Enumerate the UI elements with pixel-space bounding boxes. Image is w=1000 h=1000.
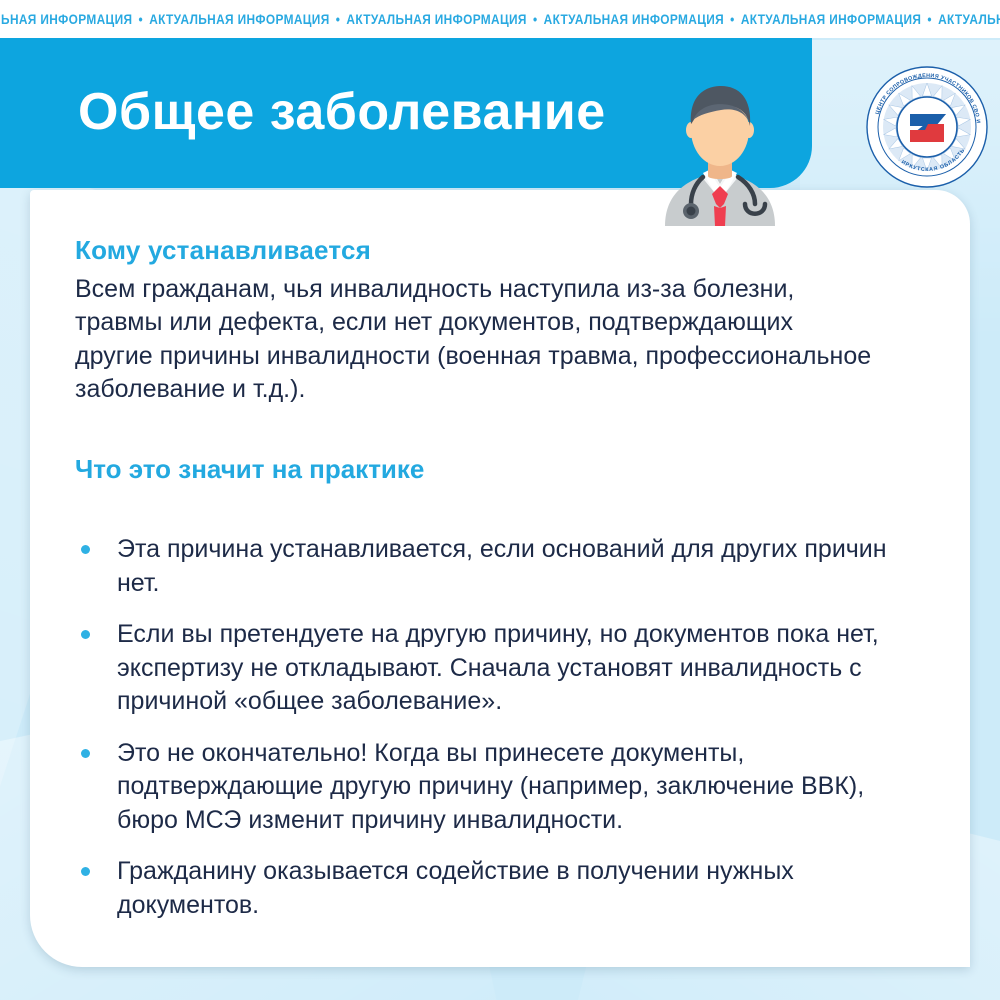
content-card: Кому устанавливается Всем гражданам, чья…: [30, 190, 970, 967]
bullet-dot-icon: [81, 867, 90, 876]
bullet-dot-icon: [81, 630, 90, 639]
section-heading-who: Кому устанавливается: [75, 235, 910, 266]
page-title: Общее заболевание: [78, 82, 606, 142]
list-item-text: Эта причина устанавливается, если основа…: [117, 535, 887, 597]
bullet-dot-icon: [81, 749, 90, 758]
infographic-page: АКТУАЛЬНАЯ ИНФОРМАЦИЯ•АКТУАЛЬНАЯ ИНФОРМА…: [0, 0, 1000, 1000]
list-item: Это не окончательно! Когда вы принесете …: [75, 737, 895, 838]
list-item-text: Гражданину оказывается содействие в полу…: [117, 857, 794, 919]
header-bar: Общее заболевание: [0, 38, 812, 188]
section-paragraph-who: Всем гражданам, чья инвалидность наступи…: [75, 273, 875, 406]
ticker-text: АКТУАЛЬНАЯ ИНФОРМАЦИЯ•АКТУАЛЬНАЯ ИНФОРМА…: [0, 12, 1000, 27]
section-heading-practice: Что это значит на практике: [75, 454, 910, 485]
list-item: Гражданину оказывается содействие в полу…: [75, 855, 895, 922]
bullet-dot-icon: [81, 545, 90, 554]
list-item-text: Это не окончательно! Когда вы принесете …: [117, 739, 864, 834]
list-item: Если вы претендуете на другую причину, н…: [75, 618, 895, 719]
center-support-svo-logo: ЦЕНТР СОПРОВОЖДЕНИЯ УЧАСТНИКОВ СВО И ЧЛЕ…: [866, 66, 988, 188]
practice-bullet-list: Эта причина устанавливается, если основа…: [75, 533, 910, 922]
list-item-text: Если вы претендуете на другую причину, н…: [117, 620, 879, 715]
top-ticker-strip: АКТУАЛЬНАЯ ИНФОРМАЦИЯ•АКТУАЛЬНАЯ ИНФОРМА…: [0, 0, 1000, 38]
doctor-avatar-icon: [645, 80, 795, 226]
list-item: Эта причина устанавливается, если основа…: [75, 533, 895, 600]
